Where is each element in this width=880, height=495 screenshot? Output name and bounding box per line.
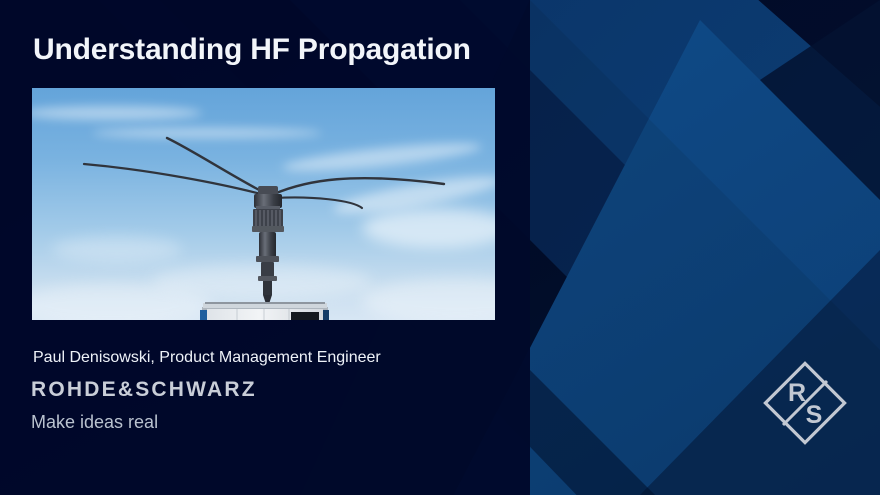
presenter-credit: Paul Denisowski, Product Management Engi… (33, 349, 381, 367)
antenna-scene (32, 88, 495, 320)
brand-wordmark: ROHDE&SCHWARZ (31, 378, 257, 402)
antenna-hub (252, 186, 284, 304)
rs-diamond-icon: R S (757, 355, 853, 451)
shelter-body (200, 302, 329, 320)
presentation-slide: Understanding HF Propagation (0, 0, 880, 495)
brand-tagline: Make ideas real (31, 412, 158, 433)
hero-image (32, 88, 495, 320)
logo-letter-s: S (806, 401, 823, 429)
rohde-schwarz-logo: R S (757, 355, 853, 451)
page-title: Understanding HF Propagation (33, 33, 471, 67)
logo-letter-r: R (788, 379, 806, 407)
